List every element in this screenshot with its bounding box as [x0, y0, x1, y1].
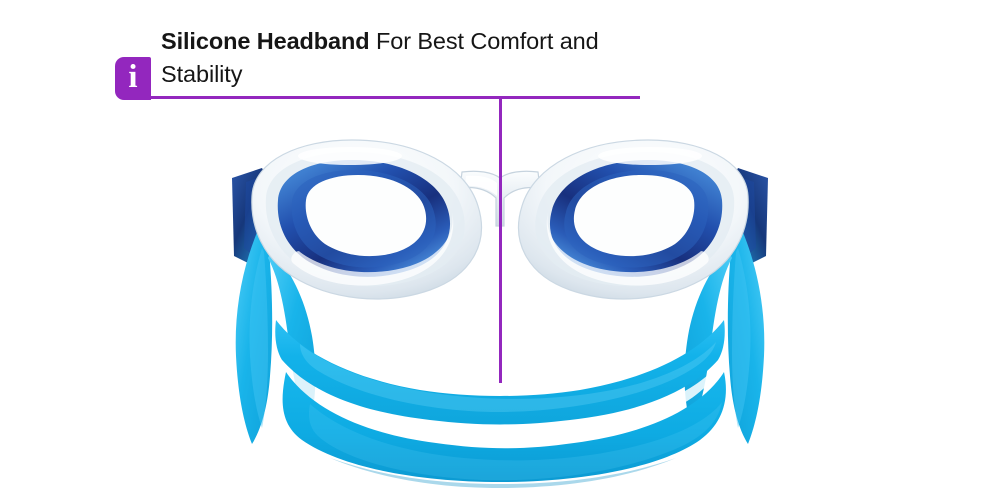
callout-headline-strong: Silicone Headband — [161, 28, 370, 54]
info-badge: i — [115, 57, 151, 100]
infographic-canvas: i Silicone Headband For Best Comfort and… — [0, 0, 1000, 500]
strap-left — [236, 230, 272, 444]
callout-vertical-leader-line — [499, 96, 502, 383]
strap-right — [728, 230, 764, 444]
callout-horizontal-line — [145, 96, 640, 99]
info-icon: i — [115, 57, 151, 100]
callout-headline: Silicone Headband For Best Comfort and S… — [161, 25, 681, 91]
